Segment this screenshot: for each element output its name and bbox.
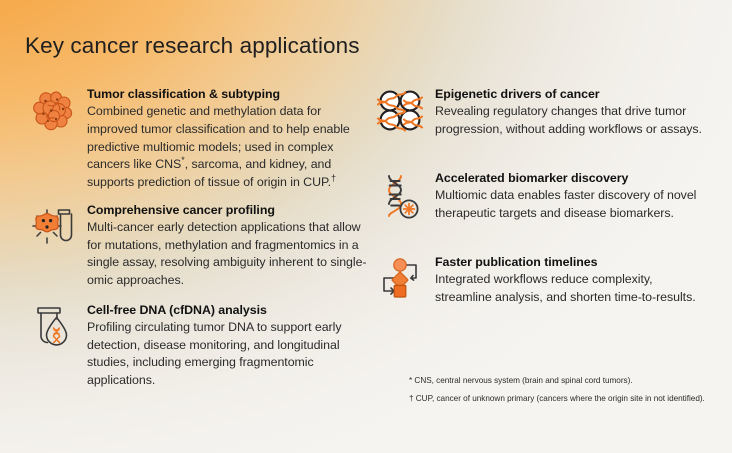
footnote-marker-dagger: † (331, 173, 336, 183)
feature-body: Revealing regulatory changes that drive … (435, 103, 708, 138)
blood-drop-dna-icon (25, 302, 81, 360)
feature-item-cfdna-analysis: Cell-free DNA (cfDNA) analysis Profiling… (25, 302, 370, 390)
workflow-flowchart-icon (373, 254, 429, 312)
tumor-cluster-icon (25, 86, 81, 144)
feature-title: Epigenetic drivers of cancer (435, 86, 708, 102)
feature-item-comprehensive-profiling: Comprehensive cancer profiling Multi-can… (25, 202, 370, 290)
feature-body: Profiling circulating tumor DNA to suppo… (87, 319, 370, 390)
feature-item-tumor-classification: Tumor classification & subtyping Combine… (25, 86, 370, 192)
feature-text: Tumor classification & subtyping Combine… (81, 86, 370, 192)
feature-item-publication-timelines: Faster publication timelines Integrated … (373, 254, 708, 312)
feature-body: Combined genetic and methylation data fo… (87, 103, 370, 192)
footnote-cup: † CUP, cancer of unknown primary (cancer… (409, 393, 709, 405)
feature-title: Tumor classification & subtyping (87, 86, 370, 102)
feature-text: Comprehensive cancer profiling Multi-can… (81, 202, 370, 290)
feature-item-biomarker-discovery: Accelerated biomarker discovery Multiomi… (373, 170, 708, 228)
page-title: Key cancer research applications (25, 33, 360, 59)
right-column: Epigenetic drivers of cancer Revealing r… (373, 86, 708, 312)
feature-body: Multi-cancer early detection application… (87, 219, 370, 290)
feature-item-epigenetic-drivers: Epigenetic drivers of cancer Revealing r… (373, 86, 708, 144)
feature-text: Cell-free DNA (cfDNA) analysis Profiling… (81, 302, 370, 390)
feature-text: Faster publication timelines Integrated … (429, 254, 708, 307)
left-column: Tumor classification & subtyping Combine… (25, 86, 370, 390)
footnote-cns: * CNS, central nervous system (brain and… (409, 375, 709, 387)
dna-helix-target-icon (373, 170, 429, 228)
footnotes-block: * CNS, central nervous system (brain and… (409, 375, 709, 404)
feature-title: Comprehensive cancer profiling (87, 202, 370, 218)
feature-title: Cell-free DNA (cfDNA) analysis (87, 302, 370, 318)
feature-title: Accelerated biomarker discovery (435, 170, 708, 186)
feature-body: Multiomic data enables faster discovery … (435, 187, 708, 222)
slide-canvas: Key cancer research applications (0, 0, 732, 453)
feature-text: Epigenetic drivers of cancer Revealing r… (429, 86, 708, 139)
feature-title: Faster publication timelines (435, 254, 708, 270)
feature-body: Integrated workflows reduce complexity, … (435, 271, 708, 306)
nucleosome-icon (373, 86, 429, 144)
feature-text: Accelerated biomarker discovery Multiomi… (429, 170, 708, 223)
virus-cell-test-tube-icon (25, 202, 81, 260)
